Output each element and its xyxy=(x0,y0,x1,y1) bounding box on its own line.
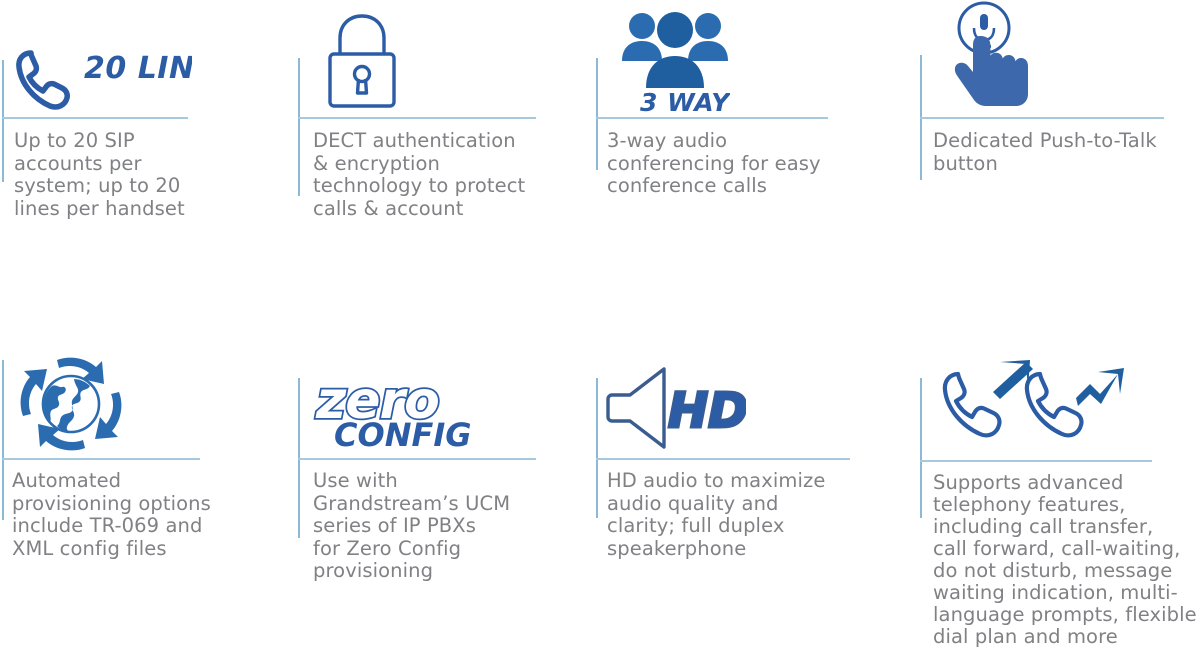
feature-description: Up to 20 SIP accounts per system; up to … xyxy=(14,130,284,220)
card-horizontal-rule xyxy=(596,117,828,119)
card-horizontal-rule xyxy=(2,458,200,460)
feature-description: Use with Grandstream’s UCM series of IP … xyxy=(313,470,593,583)
phone-handset-icon: 20 LINES xyxy=(12,42,192,114)
card-vertical-rule xyxy=(298,58,300,196)
feature-description: Supports advanced telephony features, in… xyxy=(933,472,1200,648)
feature-card-sip-lines: 20 LINES Up to 20 SIP accounts per syste… xyxy=(0,0,300,320)
svg-text:HD: HD xyxy=(668,383,746,439)
card-vertical-rule xyxy=(596,378,598,518)
svg-text:CONFIG: CONFIG xyxy=(334,416,472,452)
feature-description: DECT authentication & encryption technol… xyxy=(313,130,603,220)
feature-grid: 20 LINES Up to 20 SIP accounts per syste… xyxy=(0,0,1200,641)
feature-card-advanced-telephony: Supports advanced telephony features, in… xyxy=(918,340,1200,641)
card-horizontal-rule xyxy=(920,117,1164,119)
svg-text:20 LINES: 20 LINES xyxy=(84,51,192,86)
card-horizontal-rule xyxy=(596,458,850,460)
feature-card-push-to-talk: Dedicated Push-to-Talk button xyxy=(918,0,1200,320)
card-horizontal-rule xyxy=(920,460,1152,462)
svg-text:3 WAY: 3 WAY xyxy=(640,88,730,114)
feature-card-three-way-conference: 3 WAY 3-way audio conferencing for easy … xyxy=(594,0,900,320)
card-horizontal-rule xyxy=(298,458,536,460)
zero-config-logo-icon: zero CONFIG xyxy=(312,372,492,452)
padlock-icon xyxy=(322,8,402,112)
call-transfer-forward-icon xyxy=(938,358,1168,458)
card-horizontal-rule xyxy=(298,117,536,119)
card-vertical-rule xyxy=(920,378,922,518)
feature-card-hd-audio: HD HD audio to maximize audio quality an… xyxy=(594,340,900,641)
hand-pressing-microphone-button-icon xyxy=(944,0,1054,110)
feature-card-dect-security: DECT authentication & encryption technol… xyxy=(296,0,596,320)
card-vertical-rule xyxy=(596,58,598,170)
card-vertical-rule xyxy=(2,60,4,182)
globe-refresh-arrows-icon xyxy=(12,354,130,454)
feature-description: 3-way audio conferencing for easy confer… xyxy=(607,130,907,198)
feature-description: HD audio to maximize audio quality and c… xyxy=(607,470,907,560)
feature-description: Automated provisioning options include T… xyxy=(12,470,302,560)
card-horizontal-rule xyxy=(2,117,188,119)
feature-card-auto-provisioning: Automated provisioning options include T… xyxy=(0,340,300,641)
card-vertical-rule xyxy=(2,360,4,520)
feature-card-zero-config: zero CONFIG Use with Grandstream’s UCM s… xyxy=(296,340,596,641)
speaker-hd-icon: HD xyxy=(606,365,746,450)
feature-description: Dedicated Push-to-Talk button xyxy=(933,130,1200,175)
three-people-icon: 3 WAY xyxy=(620,6,730,114)
